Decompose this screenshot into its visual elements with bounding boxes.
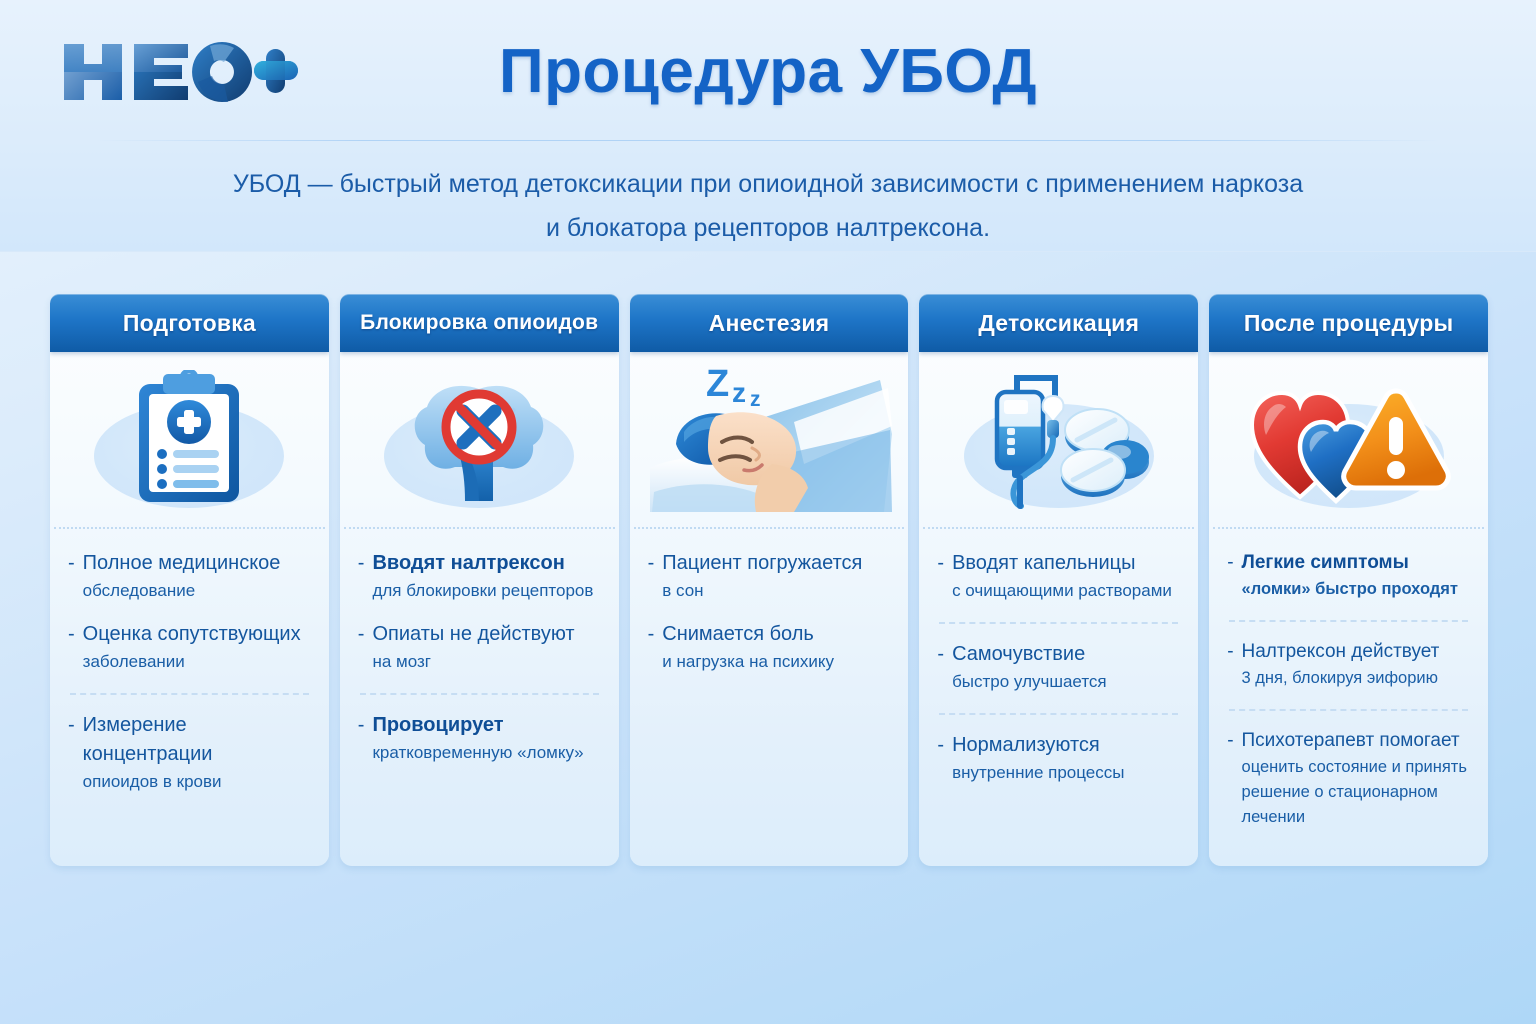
bullet-dash: - <box>648 620 655 649</box>
list-item-text: Пациент погружается в сон <box>662 549 890 604</box>
list-item: - Оценка сопутствующих заболевании <box>68 620 311 691</box>
list-item-lead: Полное медицинское <box>83 549 311 578</box>
item-separator <box>70 693 309 695</box>
list-item: - Снимается боль и нагрузка на психику <box>648 620 891 691</box>
list-item-sub: на мозг <box>372 649 600 675</box>
card-header-after-procedure: После процедуры <box>1209 294 1488 352</box>
hearts-warning-icon <box>1244 375 1454 505</box>
card-header-opioid-blocking: Блокировка опиоидов <box>340 294 619 352</box>
bullet-dash: - <box>937 640 944 669</box>
list-item-sub: с очищающими растворами <box>952 578 1180 604</box>
list-item: - Пациент погружается в сон <box>648 549 891 620</box>
card-header-anesthesia: Анестезия <box>630 294 909 352</box>
items-after-procedure: - Легкие симптомы «ломки» быстро проходя… <box>1209 529 1488 866</box>
card-title-after-procedure: После процедуры <box>1244 310 1454 337</box>
list-item-sub: 3 дня, блокируя эифорию <box>1242 666 1470 691</box>
list-item-lead: Оценка сопутствующих <box>83 620 311 649</box>
list-item: - Опиаты не действуют на мозг <box>358 620 601 691</box>
list-item-sub: оценить состояние и принять решение о ст… <box>1242 755 1470 830</box>
bullet-dash: - <box>358 549 365 578</box>
icon-area-detoxification <box>919 352 1198 527</box>
svg-text:Z: Z <box>706 363 729 405</box>
bullet-dash: - <box>1227 727 1233 755</box>
list-item: - Налтрексон действует 3 дня, блокируя э… <box>1227 638 1470 707</box>
subtitle-line-1: УБОД — быстрый метод детоксикации при оп… <box>0 162 1536 206</box>
list-item-text: Измерение концентрации опиоидов в крови <box>83 711 311 795</box>
list-item-sub: «ломки» быстро проходят <box>1242 577 1470 602</box>
list-item-text: Полное медицинское обследование <box>83 549 311 604</box>
card-title-opioid-blocking: Блокировка опиоидов <box>360 311 598 335</box>
list-item-text: Самочувствие быстро улучшается <box>952 640 1180 695</box>
list-item-sub: обследование <box>83 578 311 604</box>
card-title-preparation: Подготовка <box>123 310 256 337</box>
stage-cards: Подготовка <box>50 294 1488 866</box>
list-item-text: Вводят налтрексон для блокировки рецепто… <box>372 549 600 604</box>
bullet-dash: - <box>358 711 365 740</box>
items-opioid-blocking: - Вводят налтрексон для блокировки рецеп… <box>340 529 619 866</box>
bullet-dash: - <box>937 731 944 760</box>
svg-text:z: z <box>750 388 761 411</box>
icon-area-after-procedure <box>1209 352 1488 527</box>
page-title: Процедура УБОД <box>0 36 1536 107</box>
list-item: - Легкие симптомы «ломки» быстро проходя… <box>1227 549 1470 618</box>
items-detoxification: - Вводят капельницы с очищающими раствор… <box>919 529 1198 866</box>
list-item: - Вводят капельницы с очищающими раствор… <box>937 549 1180 620</box>
bullet-dash: - <box>68 620 75 649</box>
list-item-sub: кратковременную «ломку» <box>372 740 600 766</box>
list-item-lead: Самочувствие <box>952 640 1180 669</box>
list-item-text: Нормализуются внутренние процессы <box>952 731 1180 786</box>
list-item: - Психотерапевт помогает оценить состоян… <box>1227 727 1470 846</box>
list-item: - Измерение концентрации опиоидов в кров… <box>68 711 311 811</box>
card-after-procedure[interactable]: После процедуры <box>1209 294 1488 866</box>
bullet-dash: - <box>1227 549 1233 577</box>
item-separator <box>939 713 1178 715</box>
list-item-lead: Легкие симптомы <box>1242 549 1470 577</box>
bullet-dash: - <box>358 620 365 649</box>
card-title-anesthesia: Анестезия <box>709 310 830 337</box>
item-separator <box>1229 620 1468 622</box>
card-preparation[interactable]: Подготовка <box>50 294 329 866</box>
list-item-lead: Пациент погружается <box>662 549 890 578</box>
list-item-lead: Провоцирует <box>372 711 600 740</box>
list-item: - Самочувствие быстро улучшается <box>937 640 1180 711</box>
list-item-lead: Нормализуются <box>952 731 1180 760</box>
list-item-sub: и нагрузка на психику <box>662 649 890 675</box>
list-item: - Нормализуются внутренние процессы <box>937 731 1180 802</box>
subtitle-line-2: и блокатора рецепторов налтрексона. <box>0 206 1536 250</box>
iv-drip-pills-icon <box>969 370 1149 510</box>
item-separator <box>360 693 599 695</box>
items-anesthesia: - Пациент погружается в сон - Снимается … <box>630 529 909 866</box>
page-subtitle: УБОД — быстрый метод детоксикации при оп… <box>0 162 1536 250</box>
list-item-lead: Вводят налтрексон <box>372 549 600 578</box>
top-banner: Процедура УБОД УБОД — быстрый метод дето… <box>0 0 1536 252</box>
bullet-dash: - <box>1227 638 1233 666</box>
item-separator <box>939 622 1178 624</box>
list-item-text: Психотерапевт помогает оценить состояние… <box>1242 727 1470 830</box>
list-item-lead: Опиаты не действуют <box>372 620 600 649</box>
sleeping-patient-icon: Z z z <box>644 360 894 520</box>
list-item-text: Легкие симптомы «ломки» быстро проходят <box>1242 549 1470 602</box>
card-title-detoxification: Детоксикация <box>978 310 1139 337</box>
list-item-text: Оценка сопутствующих заболевании <box>83 620 311 675</box>
brain-blocked-icon <box>399 375 559 505</box>
card-anesthesia[interactable]: Анестезия <box>630 294 909 866</box>
bullet-dash: - <box>68 711 75 740</box>
list-item: - Полное медицинское обследование <box>68 549 311 620</box>
icon-area-preparation <box>50 352 329 527</box>
list-item-text: Налтрексон действует 3 дня, блокируя эиф… <box>1242 638 1470 691</box>
clipboard-medical-icon <box>129 370 249 510</box>
card-detoxification[interactable]: Детоксикация <box>919 294 1198 866</box>
bullet-dash: - <box>648 549 655 578</box>
bullet-dash: - <box>68 549 75 578</box>
card-header-preparation: Подготовка <box>50 294 329 352</box>
svg-text:z: z <box>732 377 746 408</box>
list-item: - Вводят налтрексон для блокировки рецеп… <box>358 549 601 620</box>
item-separator <box>1229 709 1468 711</box>
list-item-lead: Вводят капельницы <box>952 549 1180 578</box>
list-item-text: Снимается боль и нагрузка на психику <box>662 620 890 675</box>
icon-area-opioid-blocking <box>340 352 619 527</box>
bullet-dash: - <box>937 549 944 578</box>
card-header-detoxification: Детоксикация <box>919 294 1198 352</box>
list-item-sub: заболевании <box>83 649 311 675</box>
list-item-lead: Налтрексон действует <box>1242 638 1470 666</box>
items-preparation: - Полное медицинское обследование - Оцен… <box>50 529 329 866</box>
list-item-text: Опиаты не действуют на мозг <box>372 620 600 675</box>
list-item: - Провоцирует кратковременную «ломку» <box>358 711 601 782</box>
title-divider <box>96 140 1440 141</box>
list-item-sub: в сон <box>662 578 890 604</box>
icon-area-anesthesia: Z z z <box>630 352 909 527</box>
list-item-text: Вводят капельницы с очищающими растворам… <box>952 549 1180 604</box>
list-item-sub: для блокировки рецепторов <box>372 578 600 604</box>
list-item-lead: Измерение концентрации <box>83 711 311 769</box>
card-opioid-blocking[interactable]: Блокировка опиоидов <box>340 294 619 866</box>
list-item-sub: внутренние процессы <box>952 760 1180 786</box>
list-item-sub: быстро улучшается <box>952 669 1180 695</box>
list-item-sub: опиоидов в крови <box>83 769 311 795</box>
list-item-lead: Психотерапевт помогает <box>1242 727 1470 755</box>
list-item-text: Провоцирует кратковременную «ломку» <box>372 711 600 766</box>
list-item-lead: Снимается боль <box>662 620 890 649</box>
